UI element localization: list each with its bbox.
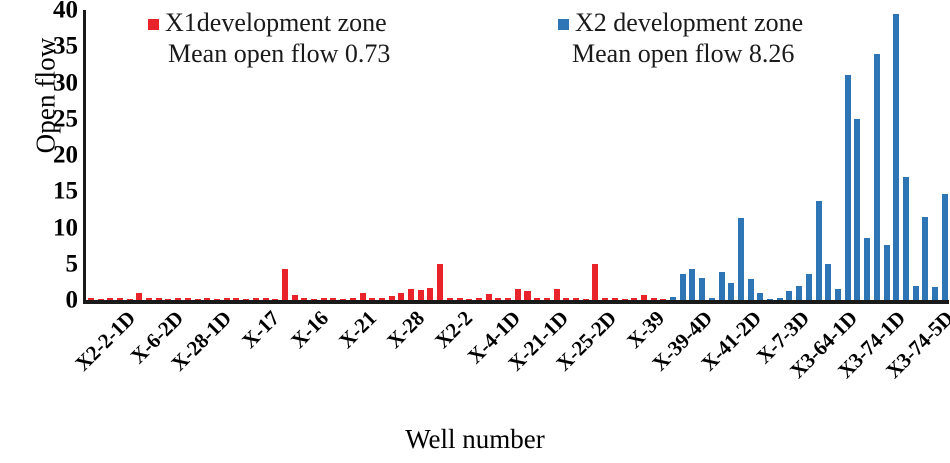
x-tick-label: X-17 — [237, 306, 285, 354]
legend-series-x2-label: X2 development zone — [575, 8, 803, 39]
y-axis-tick-labels: 4035302520151050 — [28, 0, 78, 320]
bar-slot — [426, 10, 436, 300]
bar — [427, 288, 433, 300]
y-tick-20: 20 — [53, 143, 78, 168]
x-axis-tick-labels: X2-2-1DX-6-2DX-28-1DX-17X-16X-21X-28X2-2… — [83, 300, 949, 415]
bar — [699, 278, 705, 300]
legend-series-x2-mean: Mean open flow 8.26 — [558, 39, 803, 70]
bar-slot — [397, 10, 407, 300]
x-tick-label: X-16 — [286, 306, 334, 354]
bar-slot — [843, 10, 853, 300]
y-tick-5: 5 — [66, 251, 79, 276]
bar-slot — [96, 10, 106, 300]
bar-slot — [474, 10, 484, 300]
bar-slot — [872, 10, 882, 300]
legend-series-x2: X2 development zone Mean open flow 8.26 — [558, 8, 803, 69]
bar — [835, 289, 841, 300]
bar-slot — [135, 10, 145, 300]
bar — [864, 238, 870, 300]
y-tick-40: 40 — [53, 0, 78, 23]
bar — [893, 14, 899, 300]
bar — [592, 264, 598, 300]
y-tick-0: 0 — [66, 288, 79, 313]
bar — [719, 272, 725, 300]
bar-slot — [532, 10, 542, 300]
bar-slot — [901, 10, 911, 300]
bar — [903, 177, 909, 300]
x-tick-label: X2-2-1D — [70, 306, 140, 376]
bar-slot — [853, 10, 863, 300]
bar-slot — [416, 10, 426, 300]
bar — [524, 291, 530, 300]
bar — [922, 217, 928, 300]
bar-slot — [115, 10, 125, 300]
bar — [680, 274, 686, 300]
bar-slot — [823, 10, 833, 300]
bar-slot — [920, 10, 930, 300]
x-axis-title: Well number — [0, 424, 950, 455]
bar — [825, 264, 831, 300]
bar-slot — [503, 10, 513, 300]
red-square-marker-icon — [148, 19, 159, 30]
x-tick-label: X-28 — [382, 306, 430, 354]
bar-slot — [494, 10, 504, 300]
bar-slot — [891, 10, 901, 300]
bar — [854, 119, 860, 300]
bar-slot — [484, 10, 494, 300]
bar — [942, 194, 948, 300]
bar — [816, 201, 822, 300]
y-tick-35: 35 — [53, 34, 78, 59]
bar — [845, 75, 851, 300]
bar — [418, 290, 424, 300]
legend-series-x1: X1development zone Mean open flow 0.73 — [148, 8, 390, 69]
bar-slot — [406, 10, 416, 300]
bar-slot — [862, 10, 872, 300]
bar-slot — [804, 10, 814, 300]
legend-series-x1-mean: Mean open flow 0.73 — [148, 39, 390, 70]
bar — [796, 286, 802, 301]
bar-slot — [833, 10, 843, 300]
bar — [437, 264, 443, 300]
bar-slot — [86, 10, 96, 300]
bar — [913, 286, 919, 301]
bar-slot — [911, 10, 921, 300]
bar-slot — [435, 10, 445, 300]
bar — [786, 291, 792, 300]
bar-slot — [455, 10, 465, 300]
bar — [757, 293, 763, 300]
bar — [806, 274, 812, 300]
bar-slot — [523, 10, 533, 300]
bar — [884, 245, 890, 300]
bar — [738, 218, 744, 300]
y-tick-25: 25 — [53, 106, 78, 131]
bar — [932, 287, 938, 300]
bar-slot — [464, 10, 474, 300]
bar-slot — [814, 10, 824, 300]
bar — [874, 54, 880, 301]
y-tick-15: 15 — [53, 179, 78, 204]
bar — [398, 293, 404, 300]
bar-slot — [940, 10, 950, 300]
bar — [554, 289, 560, 300]
x-tick-label: X-21 — [334, 306, 382, 354]
bar — [728, 283, 734, 300]
bar — [689, 269, 695, 300]
bar — [282, 269, 288, 300]
legend-series-x1-label: X1development zone — [165, 8, 387, 39]
bar-slot — [542, 10, 552, 300]
bar-slot — [513, 10, 523, 300]
bar — [515, 289, 521, 300]
bar — [748, 279, 754, 300]
y-tick-30: 30 — [53, 70, 78, 95]
bar-slot — [125, 10, 135, 300]
open-flow-bar-chart: Open flow 4035302520151050 X1development… — [0, 0, 950, 463]
bar-slot — [930, 10, 940, 300]
bar-slot — [445, 10, 455, 300]
bar — [408, 289, 414, 300]
y-tick-10: 10 — [53, 215, 78, 240]
bar-slot — [105, 10, 115, 300]
bar-slot — [882, 10, 892, 300]
blue-square-marker-icon — [558, 19, 569, 30]
